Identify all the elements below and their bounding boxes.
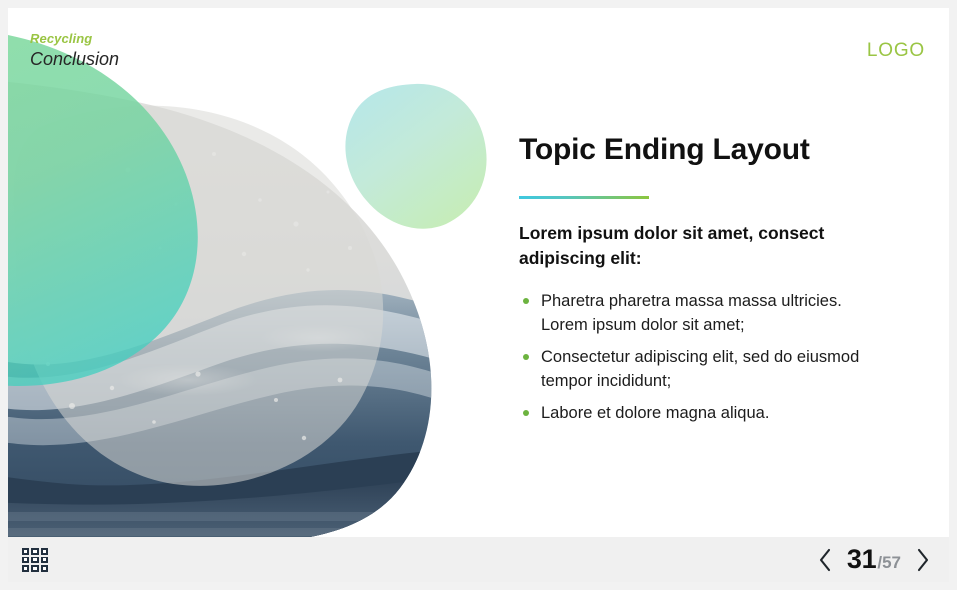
grid-view-icon[interactable]	[22, 548, 48, 572]
list-item: Pharetra pharetra massa massa ultricies.…	[519, 289, 881, 337]
grid-cell	[22, 557, 29, 564]
list-item-text: Consectetur adipiscing elit, sed do eius…	[541, 348, 859, 390]
logo[interactable]: LOGO	[867, 40, 925, 62]
section-title: Conclusion	[30, 47, 119, 71]
bullet-list: Pharetra pharetra massa massa ultricies.…	[519, 289, 919, 425]
current-page-number: 31	[847, 544, 876, 575]
grid-cell	[31, 565, 38, 572]
page-title: Topic Ending Layout	[519, 130, 919, 170]
total-pages-number: /57	[877, 553, 901, 573]
accent-blob	[345, 84, 486, 229]
slide-canvas: Recycling Conclusion LOGO Topic Ending L…	[8, 8, 949, 537]
artwork-area	[8, 8, 508, 537]
content-column: Topic Ending Layout Lorem ipsum dolor si…	[519, 130, 919, 433]
bullet-dot-icon	[523, 298, 529, 304]
slide-root: Recycling Conclusion LOGO Topic Ending L…	[0, 0, 957, 590]
grid-cell	[41, 557, 48, 564]
header-title-block: Recycling Conclusion	[30, 30, 119, 71]
page-indicator: 31 /57	[847, 544, 901, 575]
grid-cell	[31, 548, 38, 555]
grid-cell	[31, 557, 38, 564]
grid-cell	[22, 565, 29, 572]
list-item-text: Pharetra pharetra massa massa ultricies.…	[541, 292, 842, 334]
grid-cell	[22, 548, 29, 555]
grid-cell	[41, 548, 48, 555]
bullet-dot-icon	[523, 410, 529, 416]
artwork-illustration	[8, 8, 508, 537]
list-item-text: Labore et dolore magna aliqua.	[541, 404, 769, 422]
bullet-dot-icon	[523, 354, 529, 360]
title-underline-rule	[519, 196, 649, 199]
chevron-left-icon[interactable]	[817, 547, 833, 573]
chevron-right-icon[interactable]	[915, 547, 931, 573]
grid-cell	[41, 565, 48, 572]
pagination-controls: 31 /57	[817, 537, 931, 582]
lead-paragraph: Lorem ipsum dolor sit amet, consect adip…	[519, 221, 884, 271]
list-item: Consectetur adipiscing elit, sed do eius…	[519, 345, 881, 393]
eyebrow-label: Recycling	[30, 30, 119, 47]
list-item: Labore et dolore magna aliqua.	[519, 401, 881, 425]
footer-bar: 31 /57	[8, 537, 949, 582]
